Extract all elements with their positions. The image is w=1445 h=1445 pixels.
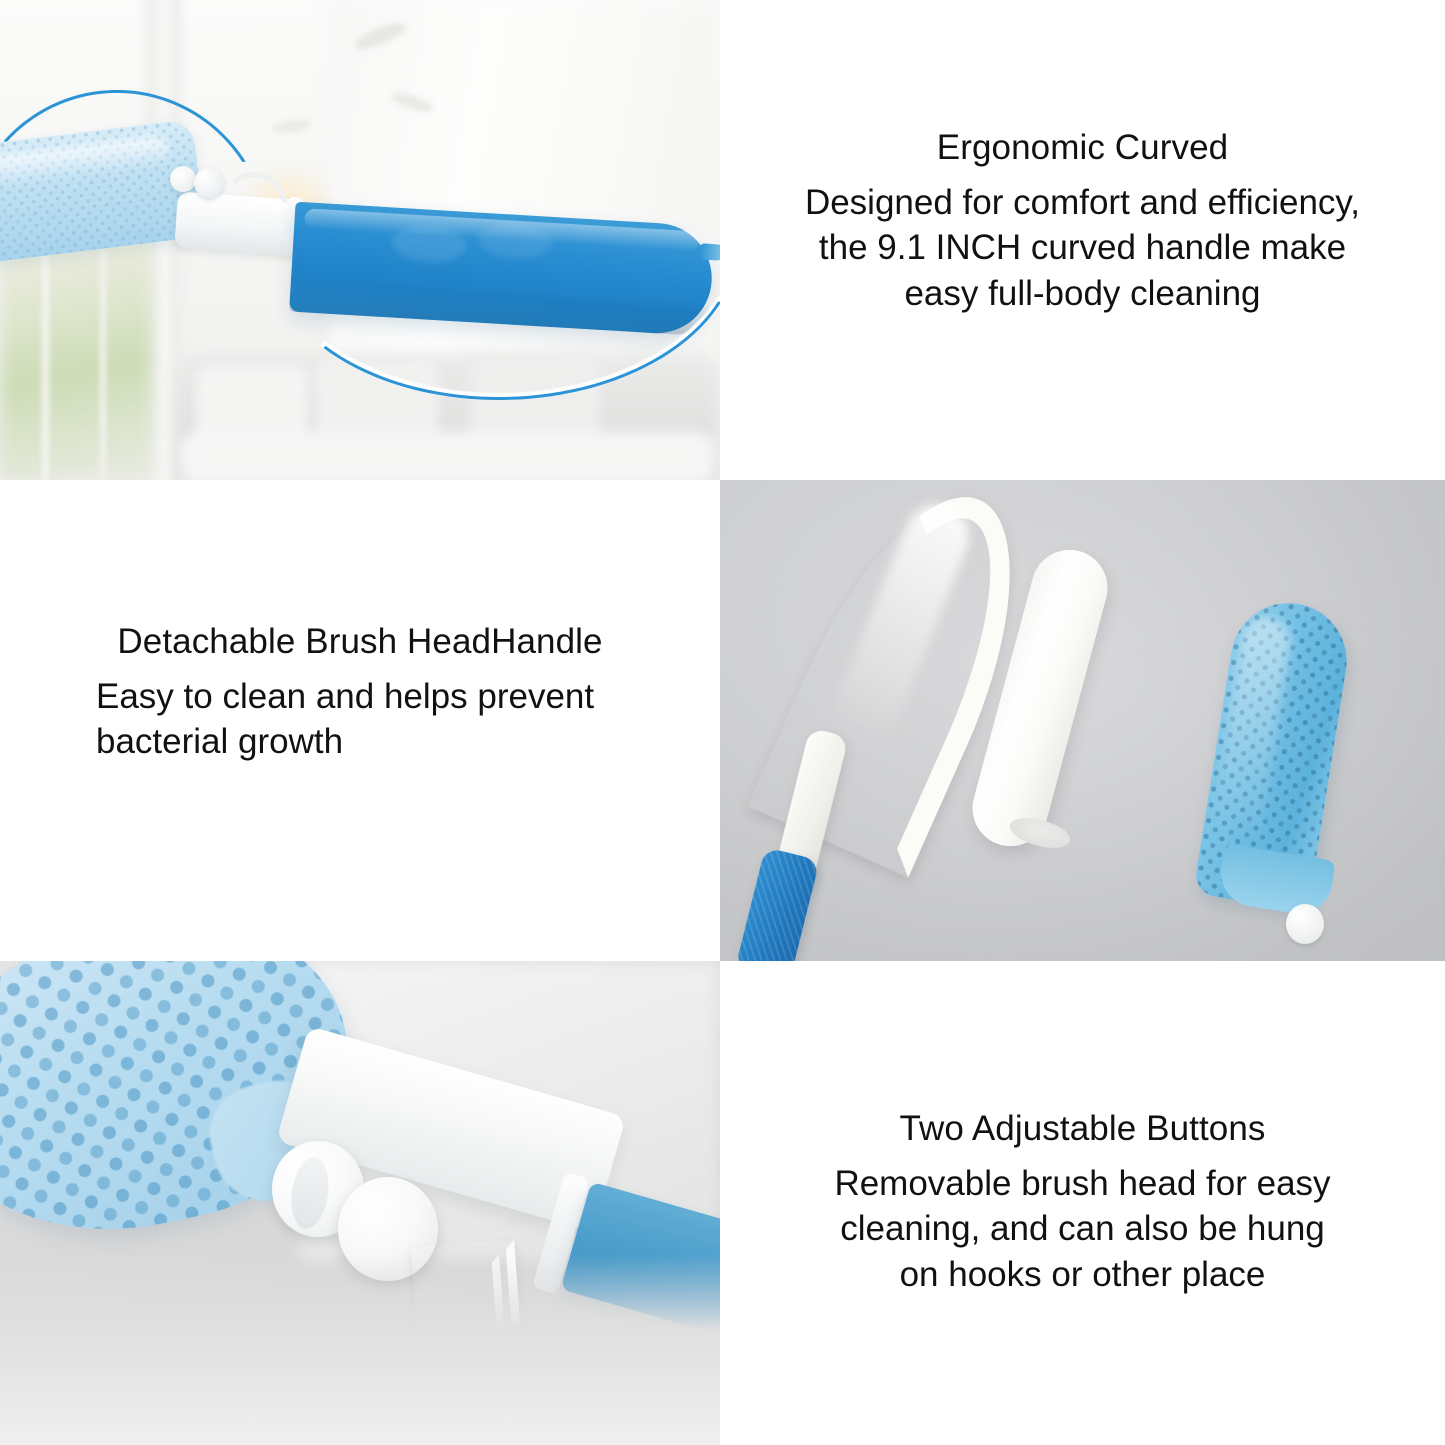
adjustable-button-1 [170,166,196,192]
body-line: Removable brush head for easy [746,1161,1419,1207]
adjustable-buttons-macro-photo [0,961,720,1445]
window-with-greenery [0,238,152,480]
panel-buttons-body: Removable brush head for easy cleaning, … [746,1161,1419,1298]
body-line: bacterial growth [96,719,624,765]
window-mullion [42,252,49,480]
body-line: Easy to clean and helps prevent [96,674,624,720]
panel-ergonomic-body: Designed for comfort and efficiency, the… [746,180,1419,317]
text-block: Detachable Brush HeadHandle Easy to clea… [0,622,720,765]
mesh-sleeve-bead [1286,904,1324,944]
body-line: easy full-body cleaning [746,271,1419,317]
panel-ergonomic-heading: Ergonomic Curved [746,128,1419,169]
body-line: Designed for comfort and efficiency, [746,180,1419,226]
panel-ergonomic-text: Ergonomic Curved Designed for comfort an… [720,0,1445,480]
panel-detachable-heading: Detachable Brush HeadHandle [26,622,694,663]
window-mullion-2 [100,250,106,480]
body-line: on hooks or other place [746,1252,1419,1298]
sofa-seat [180,432,715,480]
curved-handle-lifestyle-photo [0,0,720,480]
infographic-sheet: Ergonomic Curved Designed for comfort an… [0,0,1445,1445]
body-line: cleaning, and can also be hung [746,1206,1419,1252]
disassembled-parts-photo [720,480,1445,961]
surface-foreground [0,1255,720,1445]
panel-buttons-text: Two Adjustable Buttons Removable brush h… [720,961,1445,1445]
panel-buttons-heading: Two Adjustable Buttons [746,1109,1419,1150]
text-block: Ergonomic Curved Designed for comfort an… [720,128,1445,316]
body-line: the 9.1 INCH curved handle make [746,225,1419,271]
panel-detachable-body: Easy to clean and helps prevent bacteria… [96,674,624,765]
panel-detachable-text: Detachable Brush HeadHandle Easy to clea… [0,480,720,961]
text-block: Two Adjustable Buttons Removable brush h… [720,1109,1445,1297]
